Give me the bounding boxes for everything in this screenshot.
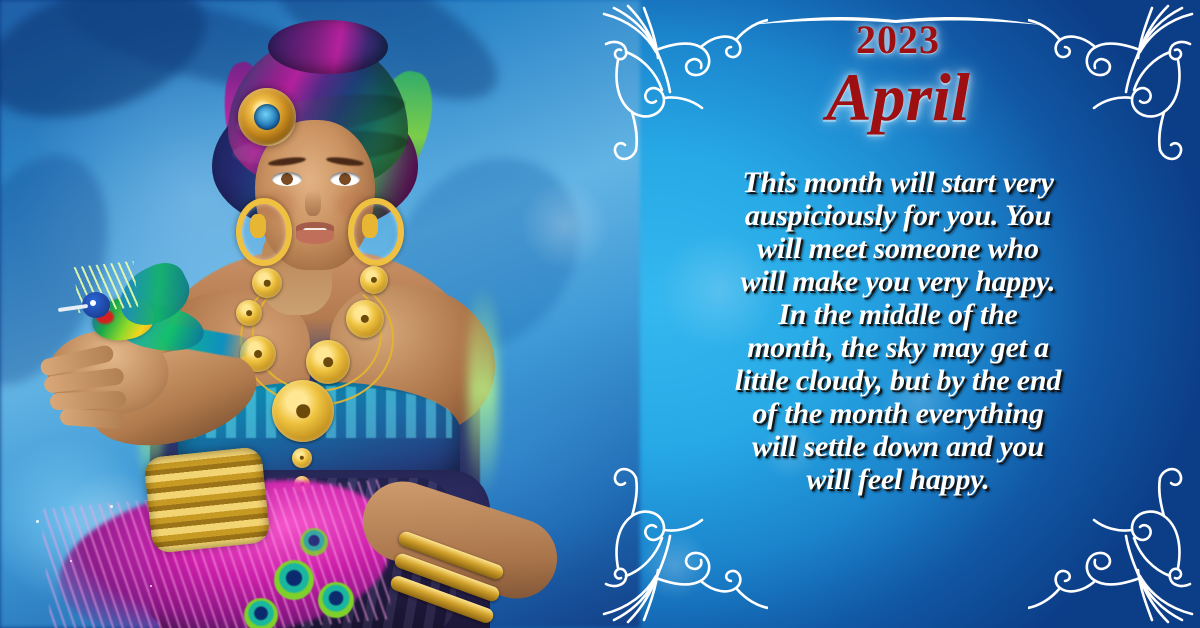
forecast-line: of the month everything <box>666 397 1130 430</box>
face-lip <box>296 230 334 244</box>
earring-ornament <box>250 214 266 238</box>
year-title: 2023 <box>596 16 1200 63</box>
necklace-disc <box>360 266 388 294</box>
sparkle <box>36 520 39 523</box>
face-eye <box>272 172 302 186</box>
month-title: April <box>596 58 1200 137</box>
sparkle <box>150 585 152 587</box>
forecast-line: will settle down and you <box>666 430 1130 463</box>
face-eye <box>330 172 360 186</box>
rim-light-right <box>468 285 498 495</box>
forecast-panel: 2023 April This month will start very au… <box>596 0 1200 628</box>
necklace-drop <box>292 448 312 468</box>
forecast-line: auspiciously for you. You <box>666 199 1130 232</box>
necklace-disc <box>236 300 262 326</box>
forecast-line: will meet someone who <box>666 232 1130 265</box>
fortune-teller-illustration <box>0 0 620 628</box>
face-nose <box>305 190 321 216</box>
horoscope-banner: 2023 April This month will start very au… <box>0 0 1200 628</box>
peacock-feather-eye <box>318 582 354 618</box>
necklace-disc <box>252 268 282 298</box>
sparkle <box>70 560 72 562</box>
forecast-text: This month will start very auspiciously … <box>666 166 1130 496</box>
forecast-line: will make you very happy. <box>666 265 1130 298</box>
hand-finger <box>59 408 124 429</box>
brooch-center-gem <box>254 104 280 130</box>
necklace-disc <box>346 300 384 338</box>
forecast-line: little cloudy, but by the end <box>666 364 1130 397</box>
peacock-feather-eye <box>300 528 328 556</box>
hummingbird-eye <box>90 300 96 306</box>
necklace-disc <box>306 340 350 384</box>
peacock-feather-eye <box>274 560 314 600</box>
turban-topknot <box>268 20 388 74</box>
sparkle <box>110 505 113 508</box>
forecast-line: This month will start very <box>666 166 1130 199</box>
forecast-line: In the middle of the <box>666 298 1130 331</box>
peacock-feather-eye <box>244 598 278 628</box>
forecast-line: will feel happy. <box>666 463 1130 496</box>
gold-cuff-bracelet <box>143 446 270 554</box>
forecast-line: month, the sky may get a <box>666 331 1130 364</box>
hand-finger <box>50 391 127 411</box>
necklace-pendant <box>272 380 334 442</box>
earring-ornament <box>362 214 378 238</box>
